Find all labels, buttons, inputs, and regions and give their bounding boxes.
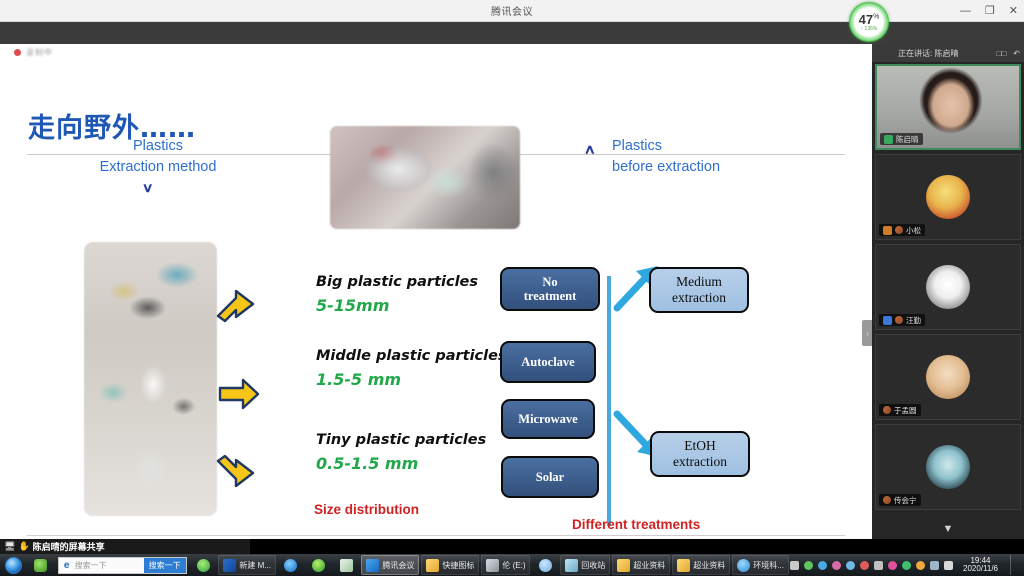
panel-header-icons: □□ ↶ [997,44,1020,62]
taskbar-item-folder-2[interactable]: 超业资料 [672,555,730,575]
participant-nameplate-4: 传会宁 [879,494,921,506]
treatment-3-line1: Solar [536,470,564,484]
participant-tile-3[interactable]: 于孟圆 [875,334,1021,420]
avatar [926,445,970,489]
monitor-icon: 🖥 [4,541,15,552]
mic-muted-icon [883,226,892,235]
badge-value: 47 [859,12,873,27]
mic-on-icon [884,135,893,144]
taskbar-icon-excel[interactable] [334,555,360,575]
size-row-2-head: Tiny plastic particles [316,432,486,448]
size-row-0-size: 5-15mm [316,296,478,315]
treatment-0-line2: treatment [524,289,577,303]
badge-unit: % [873,13,879,20]
treatment-divider-line [607,276,611,526]
windows-orb-icon [5,557,22,574]
taskbar-item-folder-1-label: 超业资料 [633,560,665,571]
participant-nameplate-0: 陈启晴 [880,133,923,145]
panel-collapse-handle[interactable]: › [862,320,872,346]
taskbar: e 搜索一下 搜索一下 新建 M... 腾讯会议 快捷图标 [0,554,1024,576]
start-button[interactable] [1,555,27,575]
presentation-slide: 走向野外…… Plastics Extraction method ∨ ∨ Pl… [0,58,872,539]
maximize-button[interactable]: ❐ [985,6,995,17]
tray-volume-icon[interactable] [944,561,953,570]
taskbar-item-env-app-label: 环境科... [753,560,784,571]
scroll-down-icon[interactable]: ▼ [872,523,1024,535]
search-button[interactable]: 搜索一下 [144,558,186,573]
taskbar-clock[interactable]: 19:44 2020/11/6 [958,557,1003,574]
hand-icon: ✋ [18,541,29,552]
extraction-method-label: Plastics Extraction method [78,136,238,178]
before-extraction-line2: before extraction [612,159,720,175]
treatment-box-solar: Solar [501,456,599,498]
participant-tile-1[interactable]: 小松 [875,154,1021,240]
taskbar-icon-browser[interactable] [191,555,217,575]
taskbar-item-folder-1[interactable]: 超业资料 [612,555,670,575]
tray-orange-icon[interactable] [916,561,925,570]
gold-arrow-up-right-icon [214,290,256,324]
participant-name-3: 于孟圆 [894,405,917,416]
layout-icon[interactable]: □□ [997,49,1007,58]
extraction-0-line2: extraction [672,290,726,305]
taskbar-item-tencent-meeting-label: 腾讯会议 [382,560,414,571]
taskbar-icon-search-desktop[interactable] [532,555,558,575]
taskbar-item-drive-e[interactable]: 伦 (E:) [481,555,530,575]
close-button[interactable]: ✕ [1009,6,1018,17]
extraction-method-line1: Plastics [133,138,183,154]
extraction-box-medium: Mediumextraction [649,267,749,313]
tray-magenta-icon[interactable] [888,561,897,570]
screen-share-notice: 🖥 ✋ 陈启晴的屏幕共享 [0,539,250,554]
taskbar-item-env-app[interactable]: 环境科... [732,555,789,575]
gold-arrow-down-right-icon [214,453,256,487]
treatment-2-line1: Microwave [518,412,577,426]
clock-date: 2020/11/6 [963,565,998,573]
participant-name-1: 小松 [906,225,921,236]
extraction-method-line2: Extraction method [100,159,217,175]
screen-root: 腾讯会议 — ❐ ✕ 47% ↑ 136% 录制中 走向野外…… Plastic… [0,0,1024,576]
size-row-0-head: Big plastic particles [316,274,478,290]
window-title: 腾讯会议 [491,3,533,18]
extraction-1-line1: EtOH [684,438,716,453]
tray-cloud-icon[interactable] [846,561,855,570]
taskbar-icon-player[interactable] [306,555,332,575]
tray-blue-icon[interactable] [818,561,827,570]
extraction-box-etoh: EtOHextraction [650,431,750,477]
before-extraction-line1: Plastics [612,138,662,154]
active-speaker-label: 正在讲话: 陈启晴 [898,48,958,59]
avatar-thumb-icon [895,226,903,234]
participant-tile-0[interactable]: 陈启晴 [875,64,1021,150]
taskbar-item-shortcuts-label: 快捷图标 [442,560,474,571]
treatment-box-microwave: Microwave [501,399,595,439]
participant-panel: 正在讲话: 陈启晴 □□ ↶ 陈启晴 小松 [872,44,1024,539]
participant-nameplate-3: 于孟圆 [879,404,921,416]
avatar [926,265,970,309]
status-badge: 47% ↑ 136% [849,2,889,42]
show-desktop-button[interactable] [1010,555,1020,575]
taskbar-item-outlook-label: 新建 M... [239,560,271,571]
participant-name-2: 汪勤 [906,315,921,326]
avatar [926,175,970,219]
browser-e-icon: e [59,560,75,571]
size-row-0: Big plastic particles 5-15mm [316,274,478,315]
mic-blue-icon [883,316,892,325]
badge-subtext: ↑ 136% [861,27,878,32]
size-row-2-size: 0.5-1.5 mm [316,454,486,473]
size-row-2: Tiny plastic particles 0.5-1.5 mm [316,432,486,473]
chevron-left-icon: ∨ [584,142,596,158]
bottom-divider [27,535,845,536]
record-dot-icon [14,49,21,56]
avatar [926,355,970,399]
size-row-1-head: Middle plastic particles [316,348,507,364]
taskbar-icon-media-player[interactable] [28,555,54,575]
taskbar-item-folder-2-label: 超业资料 [693,560,725,571]
taskbar-icon-kugou[interactable] [278,555,304,575]
tray-green-icon[interactable] [804,561,813,570]
extraction-0-line1: Medium [676,274,722,289]
tray-mic-icon[interactable] [874,561,883,570]
collapse-panel-icon[interactable]: ↶ [1013,49,1020,58]
screen-share-label: 陈启晴的屏幕共享 [33,540,105,553]
participant-nameplate-1: 小松 [879,224,925,236]
treatment-0-line1: No [542,275,557,289]
size-row-1-size: 1.5-5 mm [316,370,507,389]
treatment-1-line1: Autoclave [521,355,574,369]
chevron-down-icon: ∨ [142,180,154,196]
tray-red-icon[interactable] [860,561,869,570]
taskbar-item-outlook[interactable]: 新建 M... [218,555,276,575]
plastics-before-extraction-photo [330,126,520,229]
recording-label: 录制中 [26,47,53,58]
different-treatments-caption: Different treatments [572,517,700,532]
participant-tile-2[interactable]: 汪勤 [875,244,1021,330]
avatar-thumb-icon [883,496,891,504]
minimize-button[interactable]: — [960,6,971,17]
search-placeholder: 搜索一下 [75,560,144,571]
shared-screen-area: 录制中 走向野外…… Plastics Extraction method ∨ … [0,44,872,539]
plastics-before-extraction-label: Plastics before extraction [612,136,720,178]
taskbar-item-recycle-bin[interactable]: 回收站 [560,555,610,575]
extraction-1-line2: extraction [673,454,727,469]
taskbar-item-tencent-meeting[interactable]: 腾讯会议 [361,555,419,575]
window-controls: — ❐ ✕ [960,0,1018,22]
size-distribution-caption: Size distribution [314,502,419,517]
taskbar-item-recycle-bin-label: 回收站 [581,560,605,571]
tray-pink-icon[interactable] [832,561,841,570]
active-speaker-bar: 正在讲话: 陈启晴 □□ ↶ [872,44,1024,62]
plastic-size-samples-photo [84,242,217,516]
tray-network-icon[interactable] [930,561,939,570]
system-tray: 19:44 2020/11/6 [790,554,1024,576]
treatment-box-no-treatment: Notreatment [500,267,600,311]
participant-tile-4[interactable]: 传会宁 [875,424,1021,510]
participant-name-4: 传会宁 [894,495,917,506]
avatar-thumb-icon [883,406,891,414]
gold-arrow-right-icon [218,377,260,411]
treatment-box-autoclave: Autoclave [500,341,596,383]
taskbar-item-shortcuts[interactable]: 快捷图标 [421,555,479,575]
size-row-1: Middle plastic particles 1.5-5 mm [316,348,507,389]
participant-nameplate-2: 汪勤 [879,314,925,326]
avatar-thumb-icon [895,316,903,324]
taskbar-item-drive-e-label: 伦 (E:) [502,560,525,571]
participant-name-0: 陈启晴 [896,134,919,145]
tray-security-icon[interactable] [902,561,911,570]
recording-indicator: 录制中 [14,47,53,58]
tray-show-hidden-icon[interactable] [790,561,799,570]
search-input[interactable]: e 搜索一下 搜索一下 [58,557,187,574]
